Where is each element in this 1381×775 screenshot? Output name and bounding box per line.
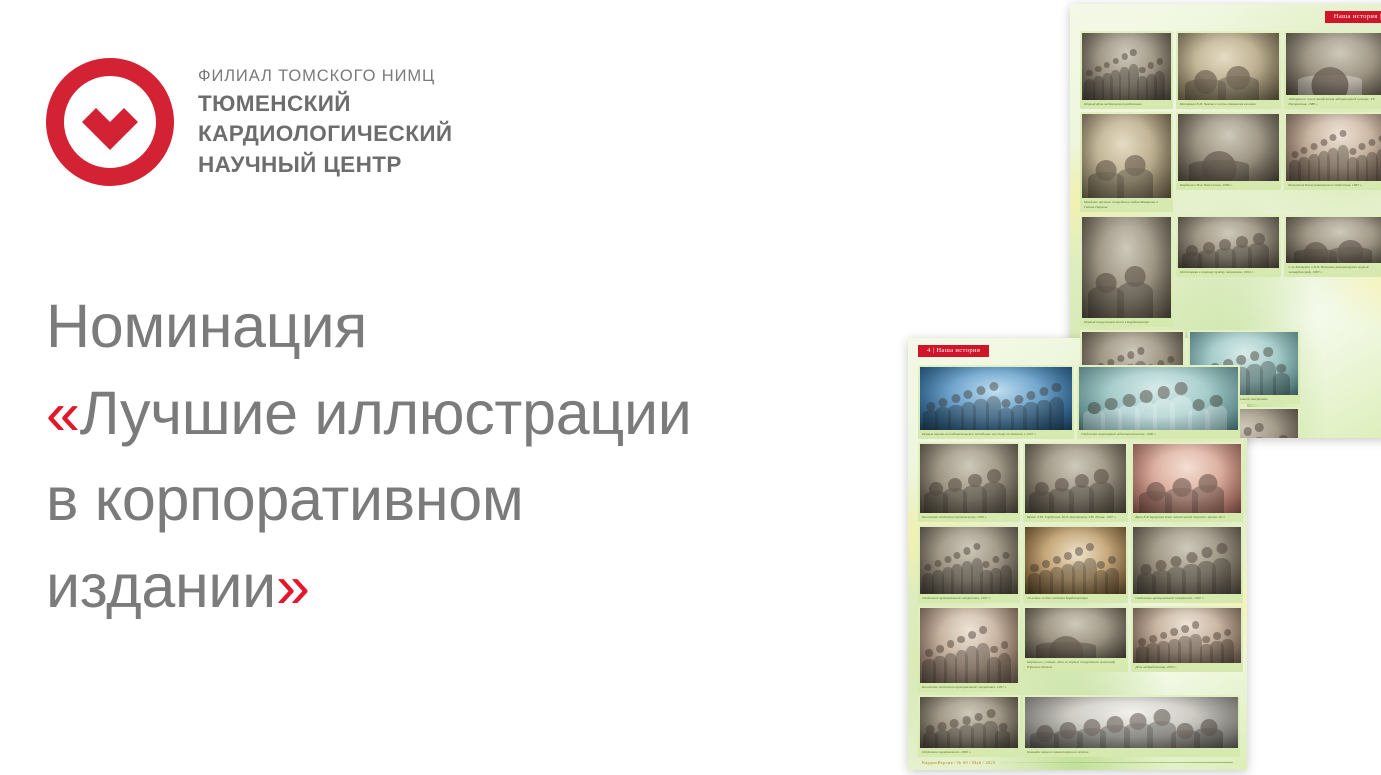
photo-card[interactable]: Коллектив отделения аритмологии, 1990 г. (918, 442, 1020, 522)
photo-card[interactable]: Кардиолог Н.А. Вологжина, 1986 г. (1176, 112, 1281, 190)
photo-row: Отделение аритмологии, 2000 г.Команда пе… (918, 695, 1237, 757)
archive-photo (1286, 114, 1381, 181)
archive-photo (1133, 444, 1241, 513)
page-4-footer: КардиоВерсия / № 69 / Май / 2025 (918, 757, 1237, 765)
photo-caption: Интервью Е.И. Чазова в честь открытия кл… (1178, 100, 1279, 109)
photo-card[interactable]: Отделение коронарной недостаточности, 19… (1077, 365, 1240, 439)
photo-caption: Первый День медицинского работника (1082, 100, 1171, 109)
page-3-section-header: Наша история | 3 (1325, 11, 1381, 23)
photo-card[interactable]: Подготовка к первому приёму пациентов, 1… (1176, 215, 1281, 277)
title-line-2: «Лучшие иллюстрации (46, 370, 846, 457)
photo-caption: С.А. Бахтурин и В.П. Николаев ремонтирую… (1286, 263, 1381, 277)
photo-card[interactable]: Лаборант и после заведующая лабораторией… (1284, 31, 1381, 109)
photo-caption: Врач Е.Р. Краюшко Блок интенсивной терап… (1133, 513, 1241, 522)
photo-card[interactable]: День медработника, 2000 г. (1131, 606, 1243, 672)
page-4-section-header: 4 | Наша история (918, 345, 989, 357)
photo-caption: Первый нагрузочный тест в Кардиоцентре (1082, 318, 1171, 327)
archive-photo (920, 367, 1072, 430)
archive-photo (1025, 697, 1238, 748)
logo-line-affiliation: ФИЛИАЛ ТОМСКОГО НИМЦ (198, 64, 452, 89)
archive-photo (1178, 114, 1279, 181)
logo-line-2: КАРДИОЛОГИЧЕСКИЙ (198, 119, 452, 149)
photo-caption: Кардиолог, учёный, один из первых сотруд… (1025, 658, 1126, 672)
photo-caption: Коллектив отделения аритмологии, 1990 г. (920, 513, 1018, 522)
photo-card[interactable]: С.А. Бахтурин и В.П. Николаев ремонтирую… (1284, 215, 1381, 277)
photo-caption: Отделение аритмологии, 2000 г. (920, 748, 1018, 757)
logo-wordmark: ФИЛИАЛ ТОМСКОГО НИМЦ ТЮМЕНСКИЙ КАРДИОЛОГ… (198, 64, 452, 180)
photo-card[interactable]: Отделение аритмологии, 2000 г. (918, 695, 1020, 757)
archive-photo (1079, 367, 1238, 430)
photo-card[interactable]: Первый День медицинского работника (1080, 31, 1173, 109)
photo-card[interactable]: Врач Е.Р. Краюшко Блок интенсивной терап… (1131, 442, 1243, 522)
photo-caption: Отделение артериальной гипертонии, 1997 … (920, 594, 1018, 603)
archive-photo (920, 527, 1018, 594)
title-line-4-text: издании (46, 552, 276, 620)
photo-card[interactable]: Интервью Е.И. Чазова в честь открытия кл… (1176, 31, 1281, 109)
photo-caption: Отделение артериальной гипертонии, 1997 … (1133, 594, 1241, 603)
photo-row: Первые научно-исследовательские экспедиц… (918, 365, 1237, 439)
title-line-4: издании» (46, 543, 846, 630)
photo-caption: Команда первого транспортного отдела (1025, 748, 1238, 757)
organization-logo: ФИЛИАЛ ТОМСКОГО НИМЦ ТЮМЕНСКИЙ КАРДИОЛОГ… (46, 58, 452, 186)
footer-rule (1000, 762, 1233, 763)
photo-caption: Младшие научные сотрудники Лидия Макаров… (1082, 198, 1171, 212)
photo-card[interactable]: Команда первого транспортного отдела (1023, 695, 1240, 757)
page-4-photo-grid: Первые научно-исследовательские экспедиц… (918, 365, 1237, 757)
slide-title: Номинация «Лучшие иллюстрации в корпорат… (46, 283, 846, 629)
archive-photo (1025, 527, 1126, 594)
photo-caption: Отделение коронарной недостаточности, 19… (1079, 430, 1238, 439)
photo-row: Первый нагрузочный тест в КардиоцентреПо… (1080, 215, 1381, 327)
photo-card[interactable]: Отделение артериальной гипертонии, 1997 … (1131, 525, 1243, 603)
archive-photo (1286, 217, 1381, 263)
photo-card[interactable]: Первые научно-исследовательские экспедиц… (918, 365, 1074, 439)
archive-photo (1133, 527, 1241, 594)
archive-photo (920, 444, 1018, 513)
archive-photo (1286, 33, 1381, 95)
magazine-page-4[interactable]: 4 | Наша история Первые научно-исследова… (908, 338, 1247, 770)
photo-card[interactable]: Коллектив отделения артериальной гиперто… (918, 606, 1020, 692)
photo-row: Младшие научные сотрудники Лидия Макаров… (1080, 112, 1381, 212)
title-line-1: Номинация (46, 283, 846, 370)
title-line-3: в корпоративном (46, 456, 846, 543)
archive-photo (1025, 444, 1126, 513)
archive-photo (920, 697, 1018, 748)
title-line-2-text: Лучшие иллюстрации (80, 379, 692, 447)
photo-caption: Врачи Т.Ю. Горбунова, Н.П. Дмитриева, Т.… (1025, 513, 1126, 522)
archive-photo (1025, 608, 1126, 658)
archive-photo (1178, 33, 1279, 100)
photo-card[interactable]: Кардиолог, учёный, один из первых сотруд… (1023, 606, 1128, 672)
logo-line-1: ТЮМЕНСКИЙ (198, 89, 452, 119)
photo-caption: Лаборант и после заведующая лабораторией… (1286, 95, 1381, 109)
archive-photo (1082, 33, 1171, 100)
photo-caption: Подготовка к первому приёму пациентов, 1… (1178, 268, 1279, 277)
photo-card[interactable]: 10-летие со дня создания Кардиоцентра (1023, 525, 1128, 603)
photo-card[interactable]: Коллектив Консультативного отделения, 19… (1284, 112, 1381, 190)
page-4-footer-text: КардиоВерсия / № 69 / Май / 2025 (922, 760, 995, 765)
photo-row: Коллектив отделения аритмологии, 1990 г.… (918, 442, 1237, 522)
heart-in-circle-logo-icon (46, 58, 174, 186)
photo-caption: День медработника, 2000 г. (1133, 663, 1241, 672)
photo-card[interactable]: Первый нагрузочный тест в Кардиоцентре (1080, 215, 1173, 327)
photo-caption: Первые научно-исследовательские экспедиц… (920, 430, 1072, 439)
archive-photo (1178, 217, 1279, 268)
archive-photo (1082, 217, 1171, 318)
archive-photo (1133, 608, 1241, 663)
archive-photo (920, 608, 1018, 683)
quote-open: « (46, 379, 80, 447)
slide-canvas: ФИЛИАЛ ТОМСКОГО НИМЦ ТЮМЕНСКИЙ КАРДИОЛОГ… (0, 0, 1381, 775)
logo-line-3: НАУЧНЫЙ ЦЕНТР (198, 150, 452, 180)
photo-card[interactable]: Отделение артериальной гипертонии, 1997 … (918, 525, 1020, 603)
photo-row: Коллектив отделения артериальной гиперто… (918, 606, 1237, 692)
photo-caption: Кардиолог Н.А. Вологжина, 1986 г. (1178, 181, 1279, 190)
photo-caption: Коллектив Консультативного отделения, 19… (1286, 181, 1381, 190)
photo-row: Первый День медицинского работникаИнтерв… (1080, 31, 1381, 109)
photo-caption: Коллектив отделения артериальной гиперто… (920, 683, 1018, 692)
photo-caption: 10-летие со дня создания Кардиоцентра (1025, 594, 1126, 603)
photo-card[interactable]: Младшие научные сотрудники Лидия Макаров… (1080, 112, 1173, 212)
photo-card[interactable]: Врачи Т.Ю. Горбунова, Н.П. Дмитриева, Т.… (1023, 442, 1128, 522)
photo-row: Отделение артериальной гипертонии, 1997 … (918, 525, 1237, 603)
quote-close: » (276, 552, 310, 620)
archive-photo (1082, 114, 1171, 198)
